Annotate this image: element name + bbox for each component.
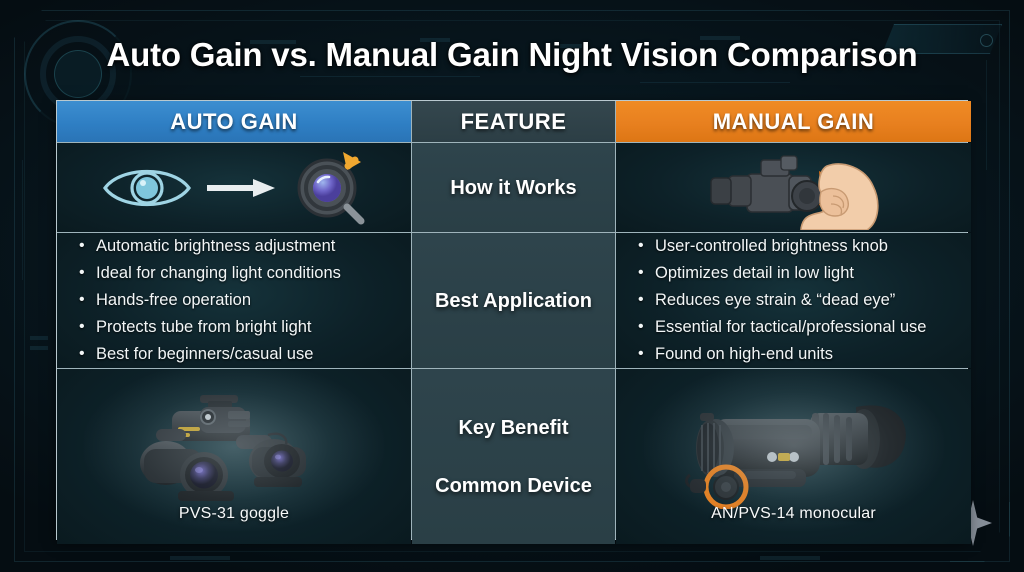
header-auto-gain: AUTO GAIN <box>57 101 411 142</box>
cell-feature-best-application: Best Application <box>412 233 615 368</box>
list-item: Reduces eye strain & “dead eye” <box>638 288 895 313</box>
header-feature: FEATURE <box>412 101 615 142</box>
feature-label-how-it-works: How it Works <box>450 176 576 200</box>
hud-line-a <box>300 76 480 77</box>
hand-turning-knob-icon <box>651 146 937 230</box>
list-item: User-controlled brightness knob <box>638 234 888 259</box>
header-manual-gain-label: MANUAL GAIN <box>713 109 875 135</box>
lens-adjust-icon <box>291 150 367 226</box>
page-title: Auto Gain vs. Manual Gain Night Vision C… <box>0 36 1024 74</box>
feature-label-key-benefit: Key Benefit <box>458 416 568 440</box>
cell-manual-how-it-works <box>616 143 971 232</box>
list-item: Found on high-end units <box>638 342 833 367</box>
list-item: Automatic brightness adjustment <box>79 234 335 259</box>
cell-manual-best-application: User-controlled brightness knob Optimize… <box>616 233 971 368</box>
cell-auto-how-it-works <box>57 143 411 232</box>
list-item: Essential for tactical/professional use <box>638 315 926 340</box>
arrow-right-icon <box>207 177 275 199</box>
list-item: Protects tube from bright light <box>79 315 312 340</box>
list-item: Best for beginners/casual use <box>79 342 313 367</box>
comparison-table: AUTO GAIN FEATURE MANUAL GAIN <box>56 100 968 540</box>
header-manual-gain: MANUAL GAIN <box>616 101 971 142</box>
hud-bar-e <box>30 336 48 340</box>
hud-bar-h <box>760 556 820 560</box>
auto-bullet-list: Automatic brightness adjustment Ideal fo… <box>57 233 411 368</box>
hud-line-b <box>640 82 790 83</box>
manual-device-caption: AN/PVS-14 monocular <box>711 505 876 523</box>
list-item: Hands-free operation <box>79 288 251 313</box>
eye-icon <box>101 162 193 214</box>
pvs-31-goggle-image <box>104 391 364 509</box>
auto-device-caption: PVS-31 goggle <box>179 505 289 523</box>
an-pvs-14-monocular-image <box>660 391 928 509</box>
infographic-canvas: Auto Gain vs. Manual Gain Night Vision C… <box>0 0 1024 572</box>
header-feature-label: FEATURE <box>461 109 567 135</box>
feature-label-common-device: Common Device <box>435 474 592 498</box>
list-item: Ideal for changing light conditions <box>79 261 341 286</box>
hud-bar-g <box>170 556 230 560</box>
cell-auto-common-device: PVS-31 goggle <box>57 369 411 544</box>
cell-feature-key-benefit: Key Benefit Common Device <box>412 369 615 544</box>
header-auto-gain-label: AUTO GAIN <box>170 109 298 135</box>
cell-feature-how-it-works: How it Works <box>412 143 615 232</box>
feature-label-best-application: Best Application <box>435 289 592 313</box>
hud-bar-f <box>30 346 48 350</box>
hud-vline-left <box>22 160 23 280</box>
feature-label-stack: Key Benefit Common Device <box>435 416 592 498</box>
manual-bullet-list: User-controlled brightness knob Optimize… <box>616 233 971 368</box>
cell-auto-best-application: Automatic brightness adjustment Ideal fo… <box>57 233 411 368</box>
hud-vline-right <box>986 60 987 170</box>
list-item: Optimizes detail in low light <box>638 261 854 286</box>
cell-manual-common-device: AN/PVS-14 monocular <box>616 369 971 544</box>
